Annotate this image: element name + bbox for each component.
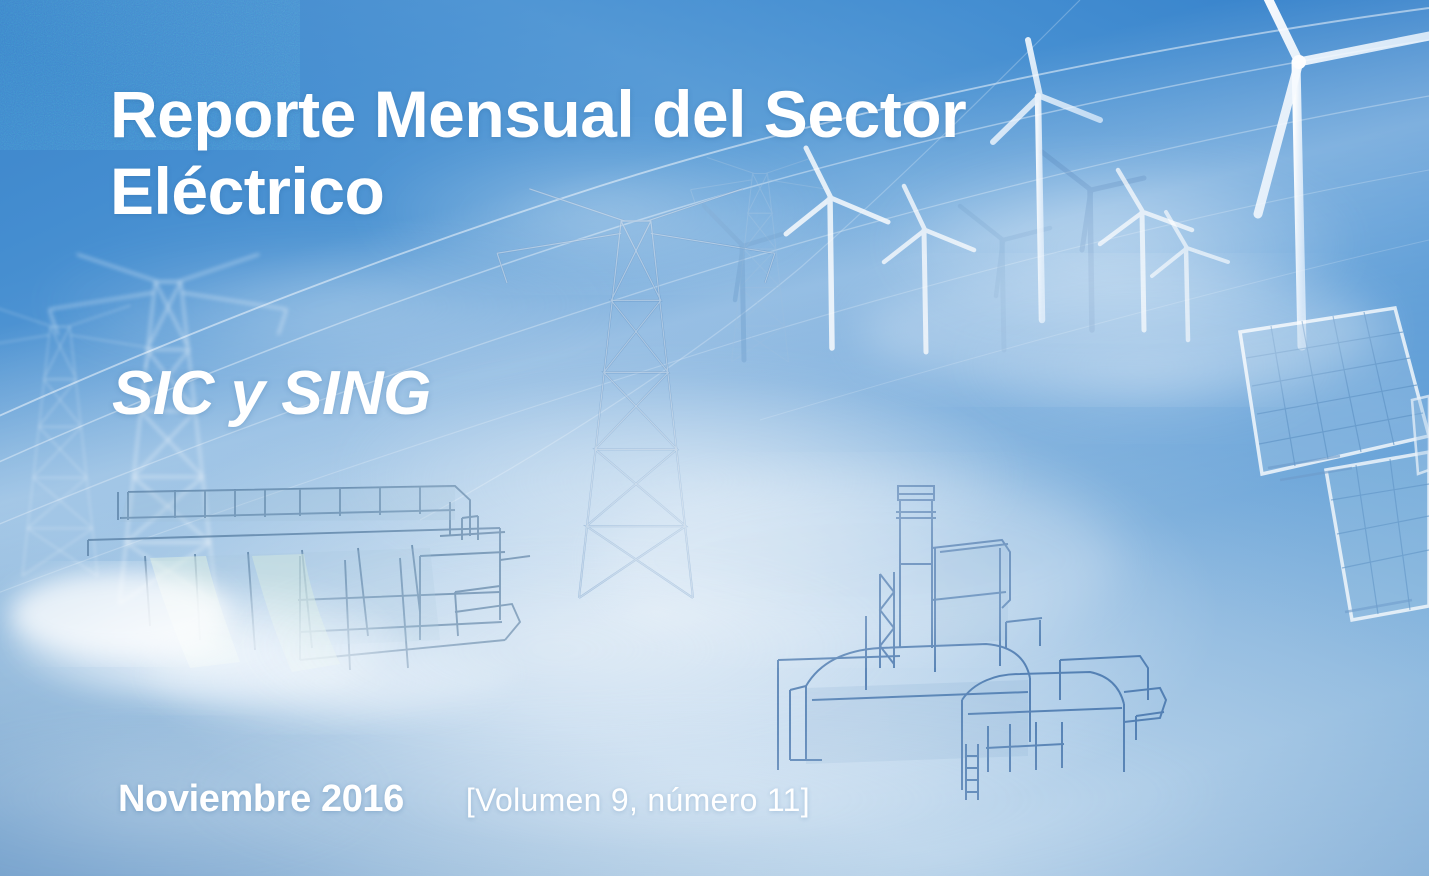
publication-date: Noviembre 2016 [118,778,404,821]
solar-panel-2 [1326,452,1429,620]
page-title: Reporte Mensual del Sector Eléctrico [110,76,1070,230]
volume-issue-label: [Volumen 9, número 11] [466,782,810,819]
page-title-line-2: Eléctrico [110,153,1070,230]
dam-mist-3 [10,570,230,658]
page-title-line-1: Reporte Mensual del Sector [110,76,1070,153]
report-cover: Reporte Mensual del Sector Eléctrico SIC… [0,0,1429,876]
cloud-turbine-base [860,266,1380,394]
page-subtitle: SIC y SING [112,358,431,429]
cloud-band-left [40,234,620,366]
cover-footer: Noviembre 2016 [Volumen 9, número 11] [118,778,810,821]
cloud-haze-mid [600,470,1120,650]
